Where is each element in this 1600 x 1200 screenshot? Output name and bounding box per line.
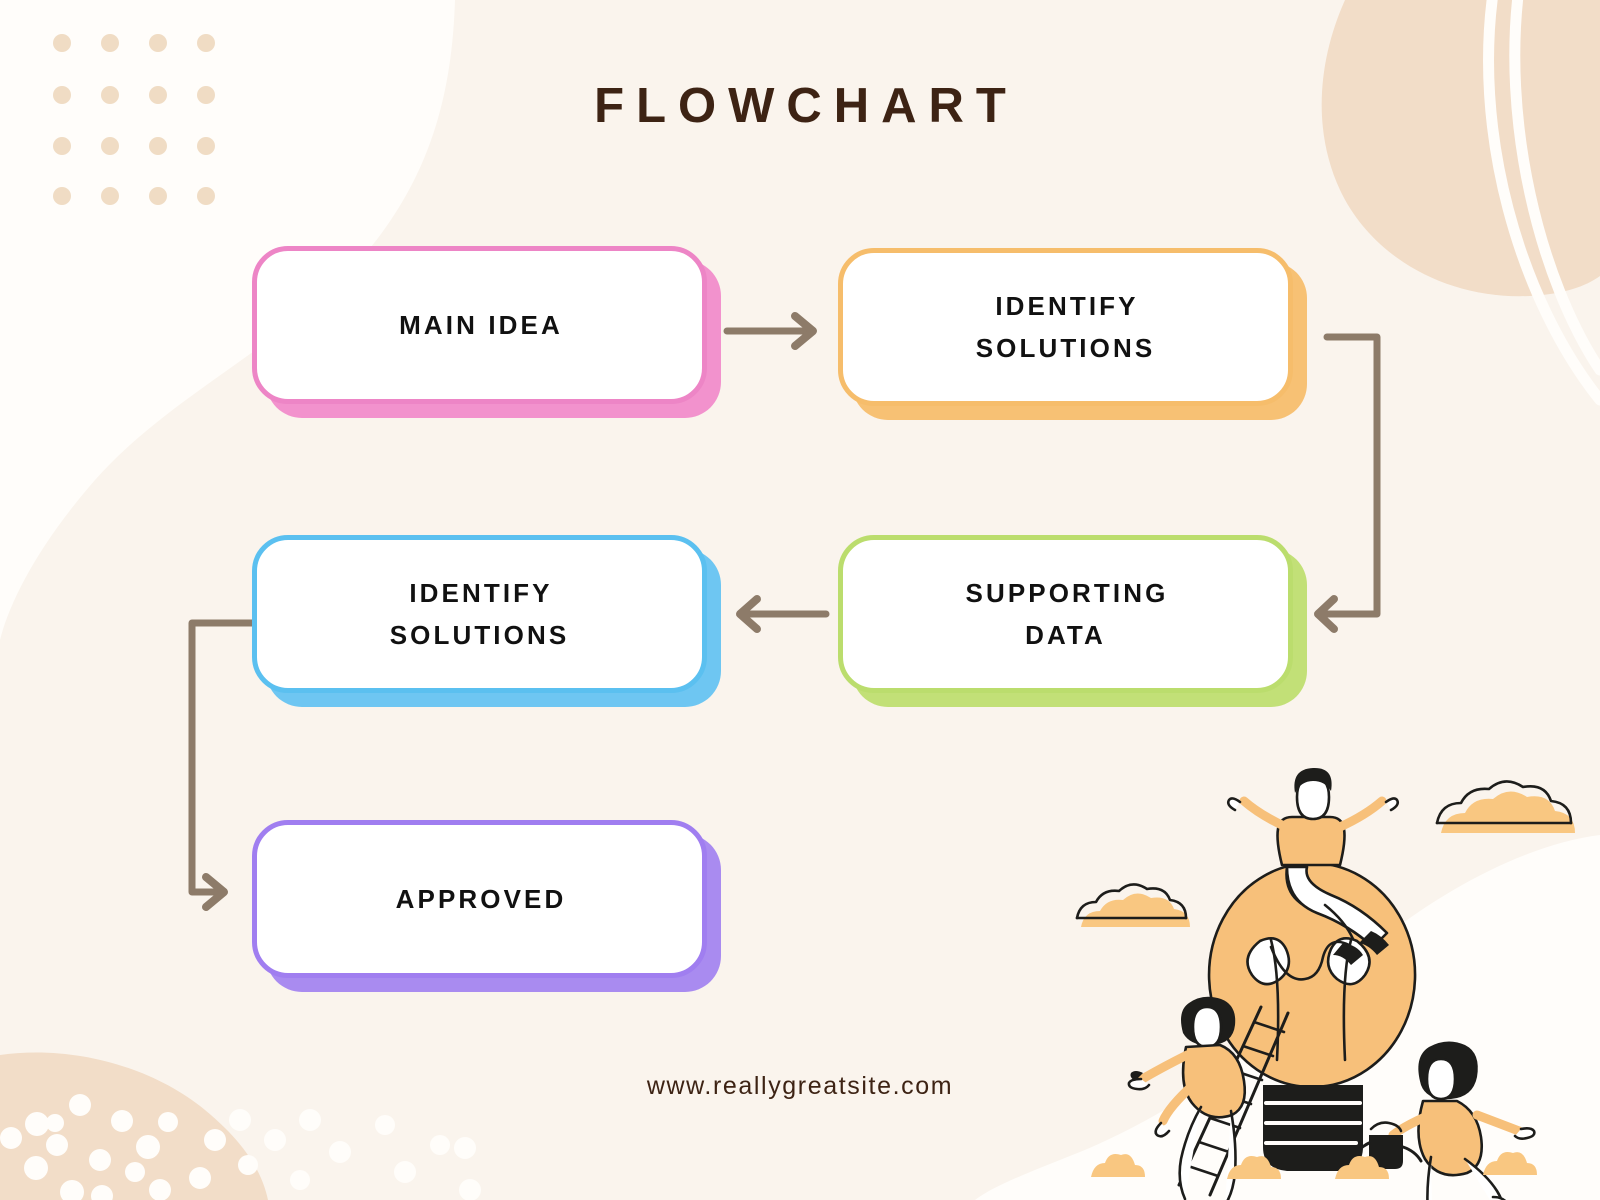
flow-node-label: MAIN IDEA: [396, 304, 563, 346]
teamwork-lightbulb-illustration: [1035, 745, 1600, 1200]
edge-identify-solutions-2-to-approved: [192, 623, 252, 907]
footer-website-url[interactable]: www.reallygreatsite.com: [0, 1072, 1600, 1101]
node-face: IDENTIFY SOLUTIONS: [252, 535, 707, 693]
edge-main-idea-to-identify-solutions-1: [727, 316, 813, 346]
arc-outer-icon: [1515, 0, 1600, 370]
cloud-left-icon: [1077, 884, 1190, 927]
page-title: FLOWCHART: [0, 78, 1600, 134]
flow-node-identify-solutions-1[interactable]: IDENTIFY SOLUTIONS: [838, 248, 1293, 406]
flow-node-identify-solutions-2[interactable]: IDENTIFY SOLUTIONS: [252, 535, 707, 693]
node-face: SUPPORTING DATA: [838, 535, 1293, 693]
blob-top-right: [1322, 0, 1600, 296]
dot-scatter-bottom-left: [0, 1094, 481, 1200]
cloud-right-icon: [1437, 781, 1575, 833]
flow-node-approved[interactable]: APPROVED: [252, 820, 707, 978]
node-face: MAIN IDEA: [252, 246, 707, 404]
edge-identify-solutions-1-to-supporting-data: [1318, 337, 1377, 629]
flow-node-label: SUPPORTING DATA: [963, 572, 1169, 656]
flowchart-canvas: FLOWCHART MAIN IDEA: [0, 0, 1600, 1200]
flow-node-label: APPROVED: [393, 878, 567, 920]
flow-node-label: IDENTIFY SOLUTIONS: [976, 285, 1156, 369]
flow-node-main-idea[interactable]: MAIN IDEA: [252, 246, 707, 404]
edge-supporting-data-to-identify-solutions-2: [740, 599, 826, 629]
node-face: APPROVED: [252, 820, 707, 978]
flow-node-label: IDENTIFY SOLUTIONS: [390, 572, 570, 656]
flow-node-supporting-data[interactable]: SUPPORTING DATA: [838, 535, 1293, 693]
arc-inner-icon: [1489, 0, 1600, 400]
node-face: IDENTIFY SOLUTIONS: [838, 248, 1293, 406]
